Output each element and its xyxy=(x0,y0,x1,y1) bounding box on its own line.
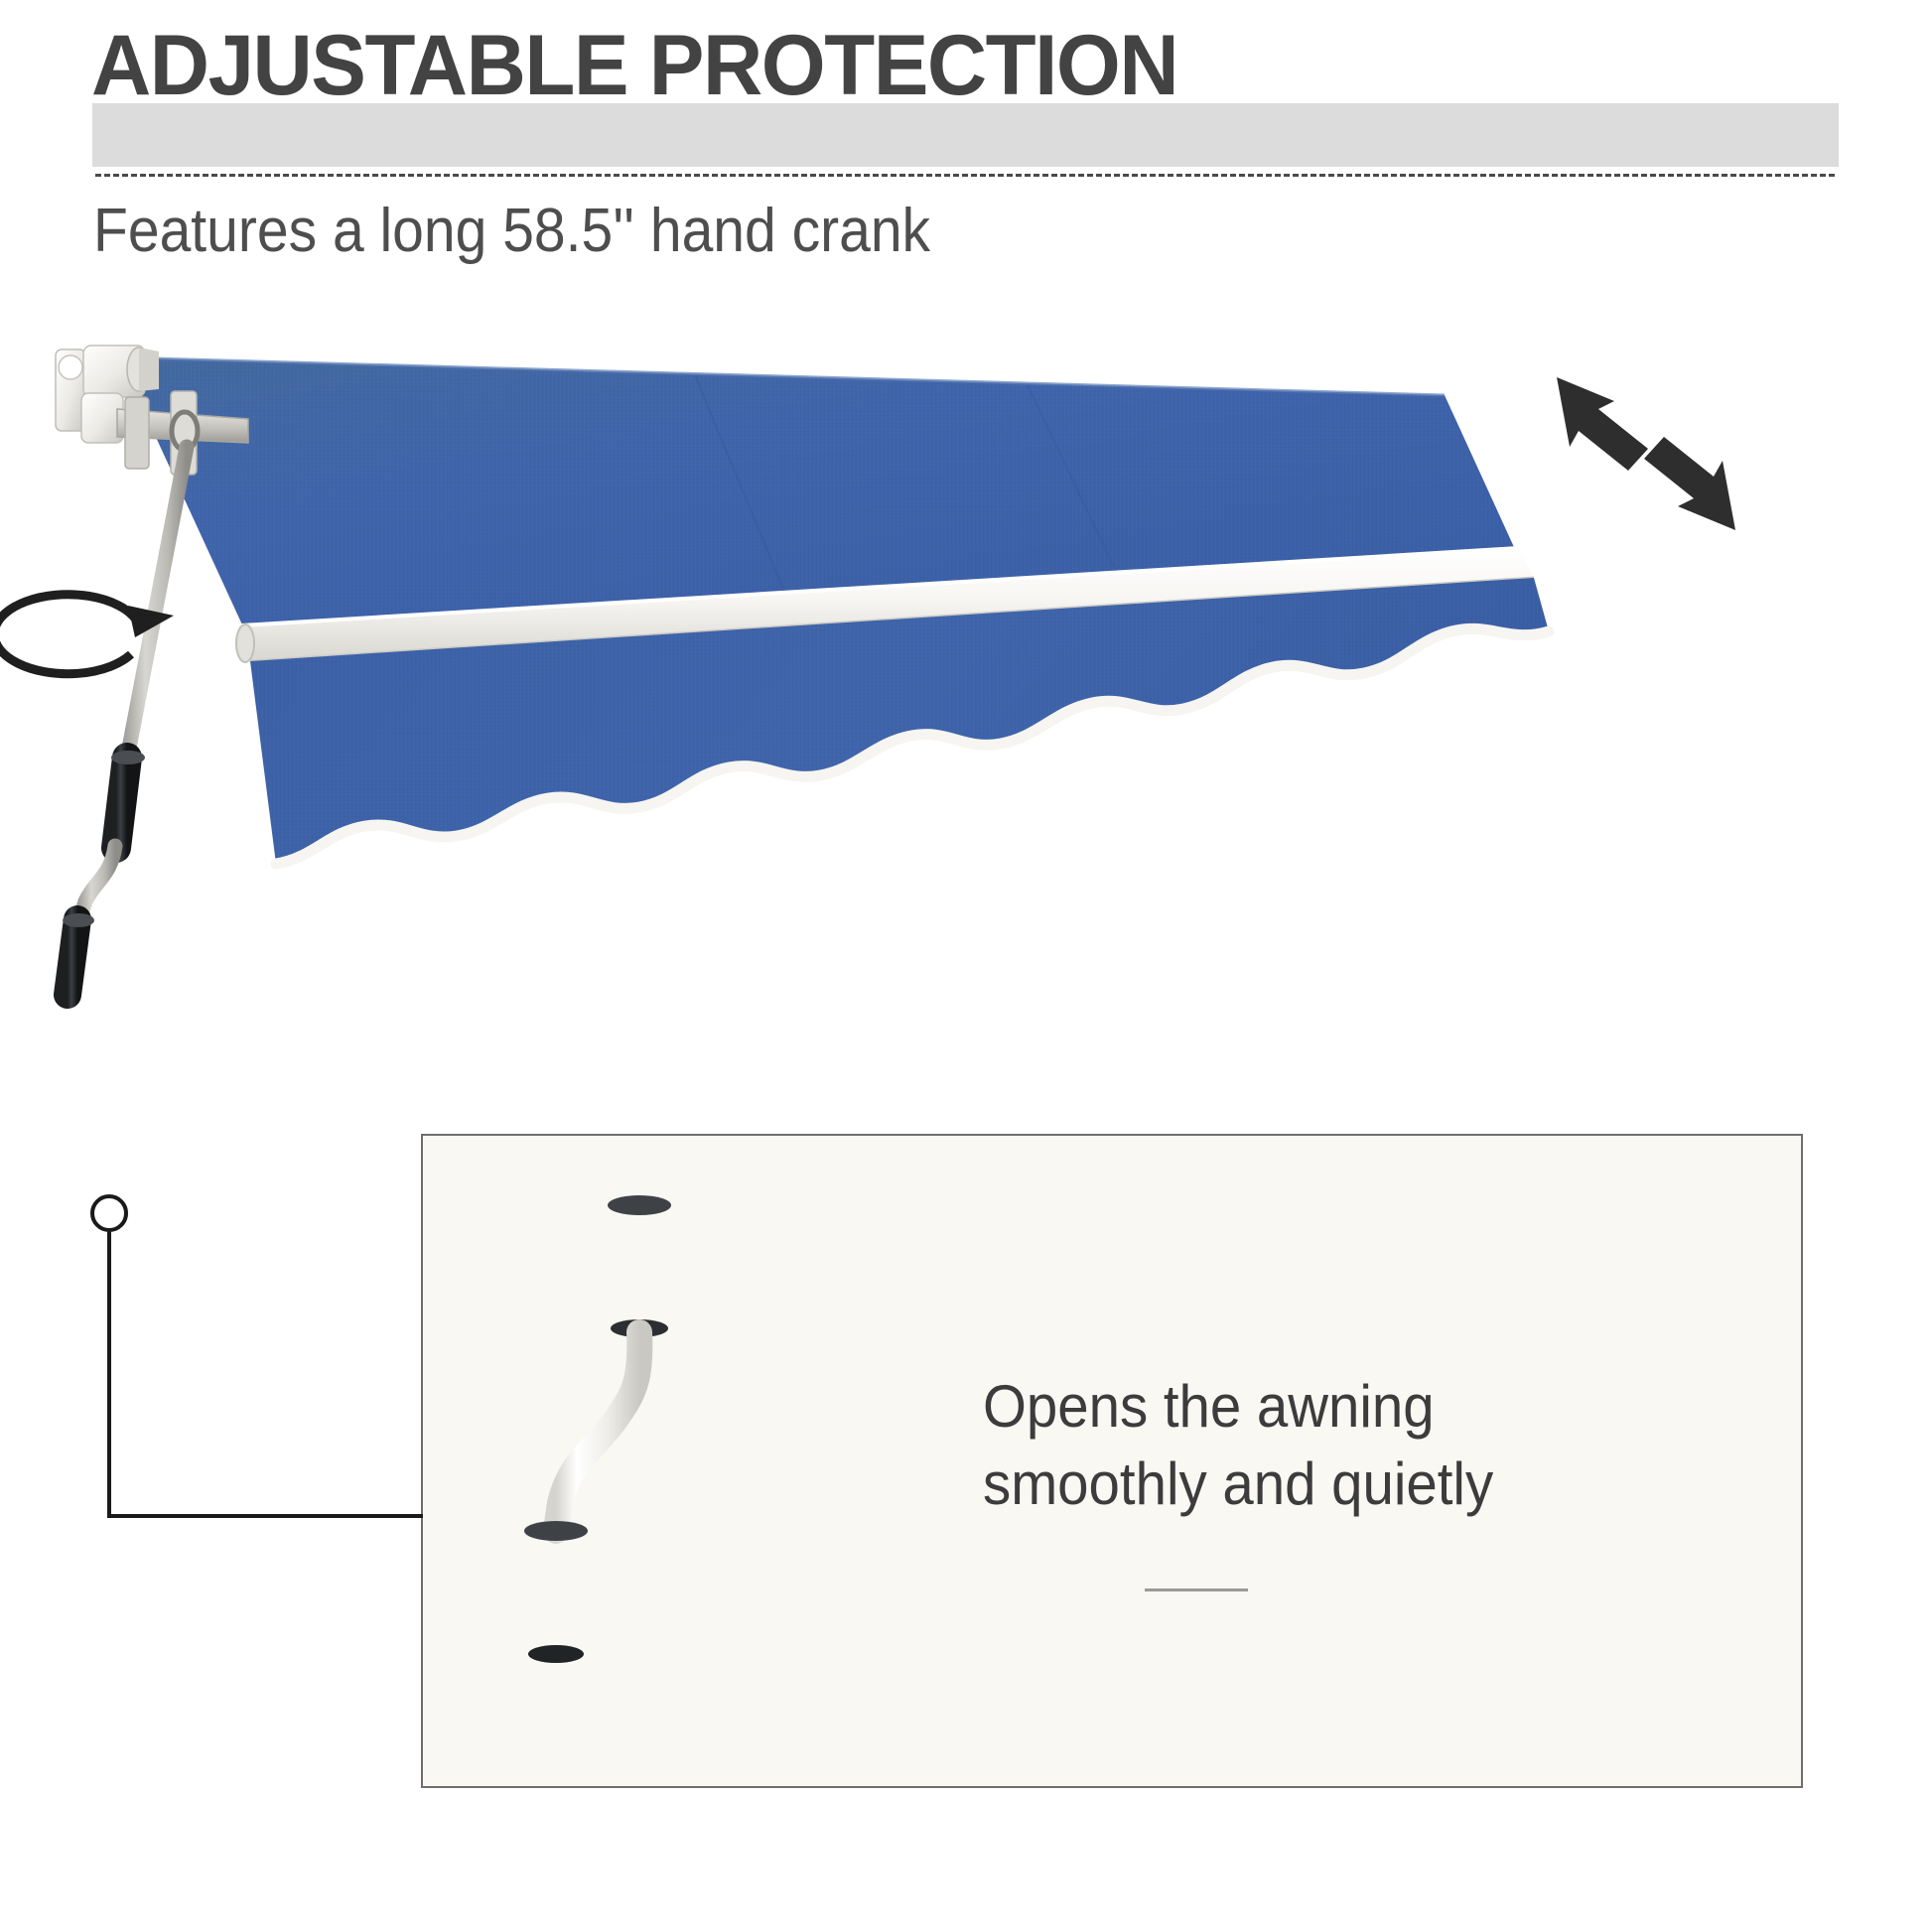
crank-closeup-image xyxy=(421,1134,1076,1789)
hand-crank xyxy=(63,447,187,995)
callout-text-line1: Opens the awning xyxy=(983,1368,1581,1446)
header-block: ADJUSTABLE PROTECTION Features a long 58… xyxy=(0,0,1932,298)
extend-retract-arrow-icon xyxy=(1557,377,1735,530)
page-subtitle: Features a long 58.5'' hand crank xyxy=(93,191,930,272)
title-dashed-divider xyxy=(95,174,1835,177)
callout-underline xyxy=(1145,1588,1248,1591)
callout-marker-circle xyxy=(92,1196,126,1230)
callout-leader-line xyxy=(60,1172,477,1588)
page-title: ADJUSTABLE PROTECTION xyxy=(91,18,1825,113)
callout-text-line2: smoothly and quietly xyxy=(983,1446,1581,1523)
callout-text: Opens the awning smoothly and quietly xyxy=(983,1368,1581,1523)
callout-leader-path xyxy=(109,1230,423,1516)
awning-product-image xyxy=(0,328,1932,1122)
